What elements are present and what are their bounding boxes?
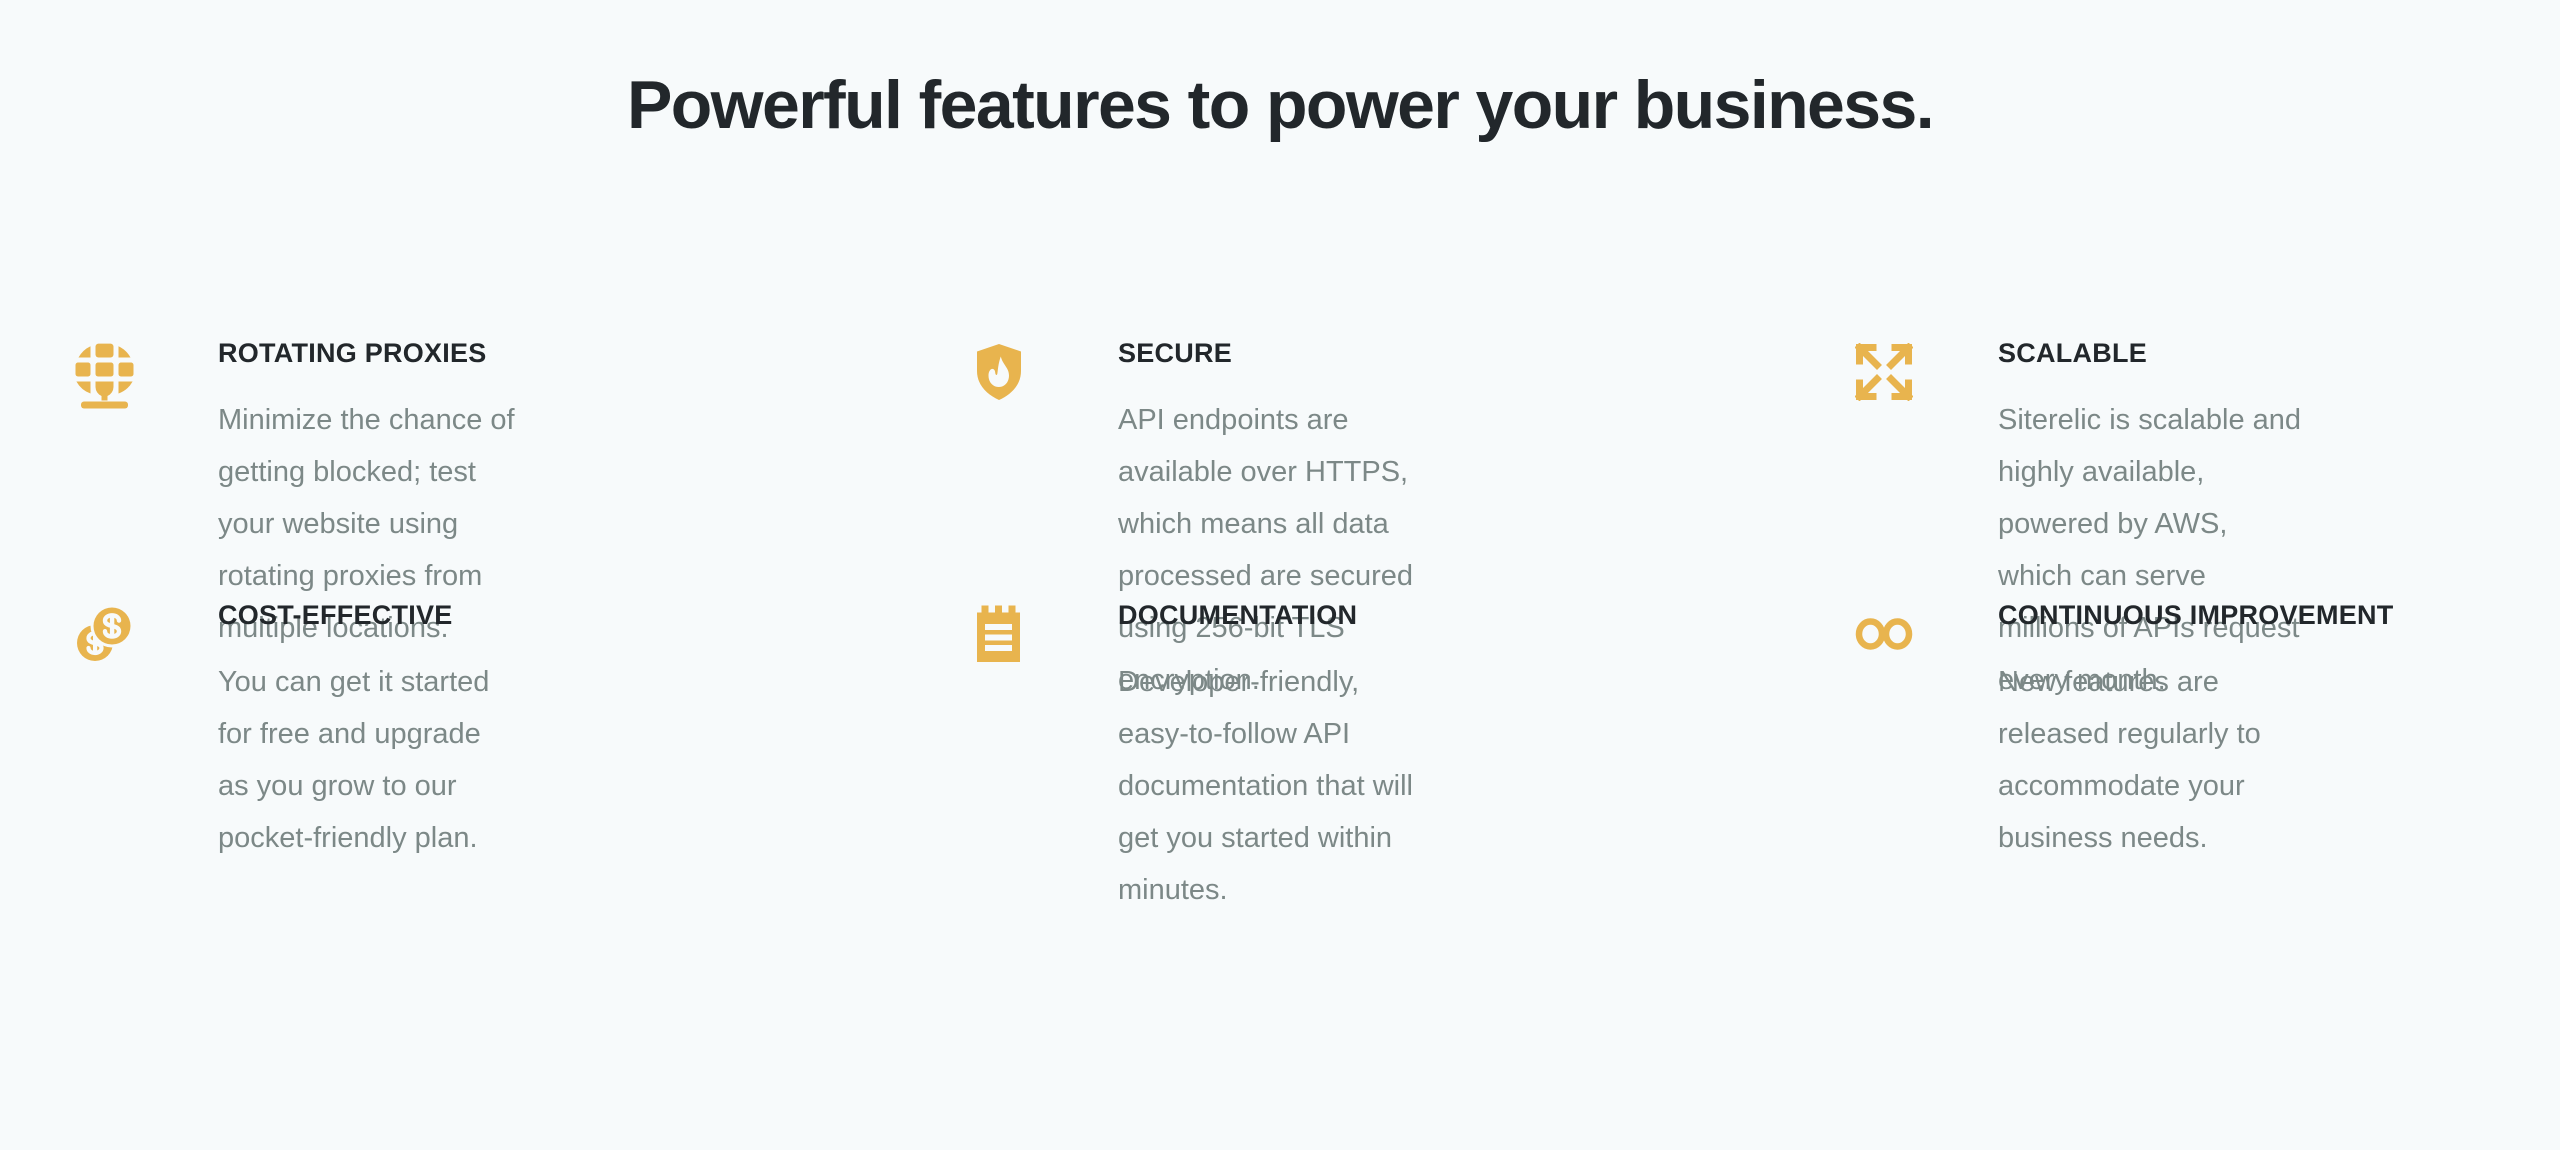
- feature-description: Developer-friendly, easy-to-follow API d…: [1118, 656, 1418, 916]
- feature-title: SECURE: [1118, 337, 1855, 369]
- feature-title: ROTATING PROXIES: [218, 337, 975, 369]
- feature-card-cost-effective: COST-EFFECTIVE You can get it started fo…: [75, 599, 975, 916]
- feature-card-documentation: DOCUMENTATION Developer-friendly, easy-t…: [975, 599, 1855, 916]
- features-grid: ROTATING PROXIES Minimize the chance of …: [75, 337, 2495, 916]
- feature-title: DOCUMENTATION: [1118, 599, 1855, 631]
- feature-card-scalable: SCALABLE Siterelic is scalable and highl…: [1855, 337, 2495, 599]
- coins-dollar-icon: [75, 605, 145, 675]
- feature-card-continuous-improvement: CONTINUOUS IMPROVEMENT New features are …: [1855, 599, 2495, 916]
- feature-description: New features are released regularly to a…: [1998, 656, 2288, 864]
- shield-flame-icon: [975, 343, 1045, 413]
- feature-body: DOCUMENTATION Developer-friendly, easy-t…: [1045, 599, 1855, 916]
- infinity-icon: [1855, 605, 1925, 675]
- feature-card-secure: SECURE API endpoints are available over …: [975, 337, 1855, 599]
- feature-title: CONTINUOUS IMPROVEMENT: [1998, 599, 2495, 631]
- page-title: Powerful features to power your business…: [0, 68, 2560, 143]
- feature-title: SCALABLE: [1998, 337, 2495, 369]
- globe-proxy-icon: [75, 343, 145, 413]
- feature-description: You can get it started for free and upgr…: [218, 656, 518, 864]
- feature-body: COST-EFFECTIVE You can get it started fo…: [145, 599, 975, 864]
- expand-arrows-icon: [1855, 343, 1925, 413]
- feature-body: CONTINUOUS IMPROVEMENT New features are …: [1925, 599, 2495, 864]
- features-section: Powerful features to power your business…: [0, 0, 2560, 1150]
- feature-card-rotating-proxies: ROTATING PROXIES Minimize the chance of …: [75, 337, 975, 599]
- notepad-lines-icon: [975, 605, 1045, 675]
- feature-title: COST-EFFECTIVE: [218, 599, 975, 631]
